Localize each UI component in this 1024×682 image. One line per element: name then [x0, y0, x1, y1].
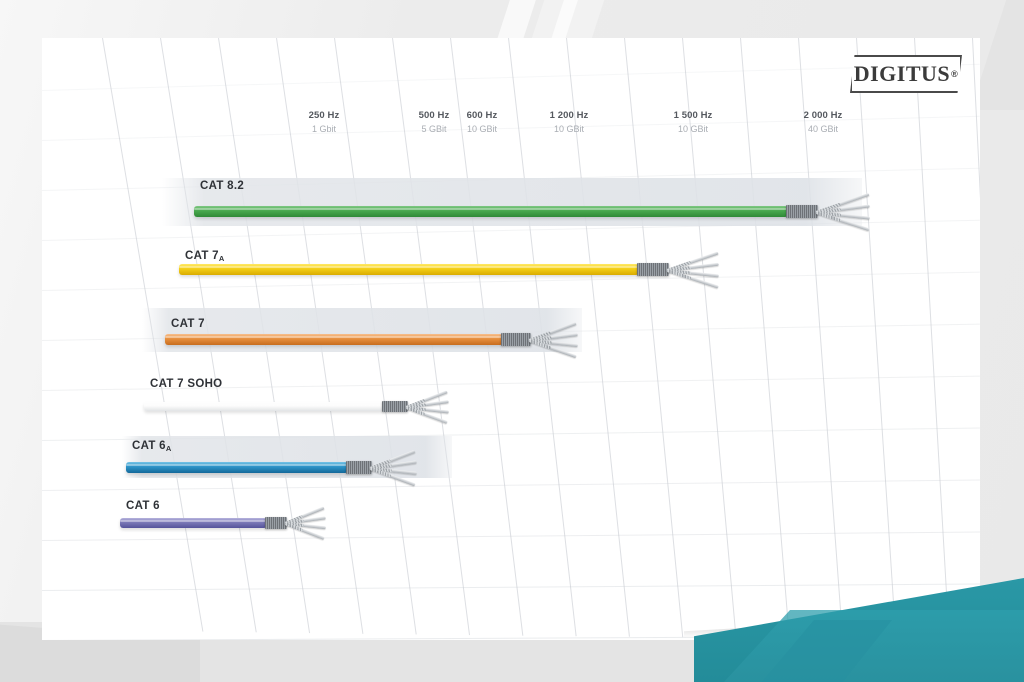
slide-canvas: DIGITUS® 250 Hz 1 Gbit 500 Hz 5 GBit 600… [0, 0, 1024, 682]
cable-jacket-cat-8-2 [194, 206, 788, 217]
cable-shield-ferrule [346, 461, 372, 474]
scale-tick-1500: 1 500 Hz 10 GBit [658, 110, 728, 134]
row-band [162, 178, 862, 226]
cable-name-subscript: A [219, 254, 225, 263]
cable-name: CAT 7 SOHO [150, 378, 222, 390]
cable-jacket-cat-7-soho [144, 402, 384, 411]
cable-label-cat-6a: CAT 6A [132, 440, 172, 452]
scale-rate-label: 10 GBit [447, 124, 517, 134]
cable-label-cat-7-soho: CAT 7 SOHO [150, 378, 222, 390]
cable-shield-ferrule [265, 517, 287, 529]
scale-rate-label: 10 GBit [534, 124, 604, 134]
cable-jacket-cat-7 [165, 334, 503, 345]
scale-hz-label: 2 000 Hz [788, 110, 858, 121]
grid-line-vertical [856, 38, 896, 639]
scale-hz-label: 250 Hz [289, 110, 359, 121]
grid-line-vertical [740, 38, 790, 638]
scale-hz-label: 1 500 Hz [658, 110, 728, 121]
scale-hz-label: 1 200 Hz [534, 110, 604, 121]
grid-line-vertical [914, 38, 950, 639]
scale-tick-600: 600 Hz 10 GBit [447, 110, 517, 134]
cable-name: CAT 6 [132, 440, 166, 452]
logo-wordmark: DIGITUS® [850, 55, 962, 93]
scale-hz-label: 600 Hz [447, 110, 517, 121]
cable-label-cat-7a: CAT 7A [185, 250, 225, 262]
cable-shield-ferrule [382, 401, 408, 412]
digitus-logo: DIGITUS® [850, 55, 962, 93]
scale-tick-250: 250 Hz 1 Gbit [289, 110, 359, 134]
cable-jacket-cat-6 [120, 518, 267, 528]
cable-shield-ferrule [637, 263, 669, 276]
grid-line-horizontal [42, 583, 980, 591]
cable-shield-ferrule [501, 333, 531, 346]
cable-name: CAT 6 [126, 500, 160, 512]
cable-name-subscript: A [166, 444, 172, 453]
cable-jacket-cat-7a [179, 264, 639, 275]
scale-tick-1200: 1 200 Hz 10 GBit [534, 110, 604, 134]
grid-line-horizontal [42, 480, 980, 491]
cable-name: CAT 7 [185, 250, 219, 262]
scale-tick-2000: 2 000 Hz 40 GBit [788, 110, 858, 134]
cable-label-cat-8-2: CAT 8.2 [200, 180, 244, 192]
grid-line-vertical [972, 38, 980, 639]
cable-jacket-cat-6a [126, 462, 348, 473]
grid-line-horizontal [42, 64, 980, 91]
cable-label-cat-7: CAT 7 [171, 318, 205, 330]
cable-name: CAT 7 [171, 318, 205, 330]
cable-label-cat-6: CAT 6 [126, 500, 160, 512]
logo-text: DIGITUS [854, 61, 950, 87]
cable-name: CAT 8.2 [200, 180, 244, 192]
cable-shield-ferrule [786, 205, 818, 218]
grid-line-horizontal [42, 531, 980, 541]
scale-rate-label: 40 GBit [788, 124, 858, 134]
scale-rate-label: 1 Gbit [289, 124, 359, 134]
scale-rate-label: 10 GBit [658, 124, 728, 134]
content-card: DIGITUS® 250 Hz 1 Gbit 500 Hz 5 GBit 600… [42, 38, 980, 640]
registered-mark-icon: ® [951, 69, 958, 79]
